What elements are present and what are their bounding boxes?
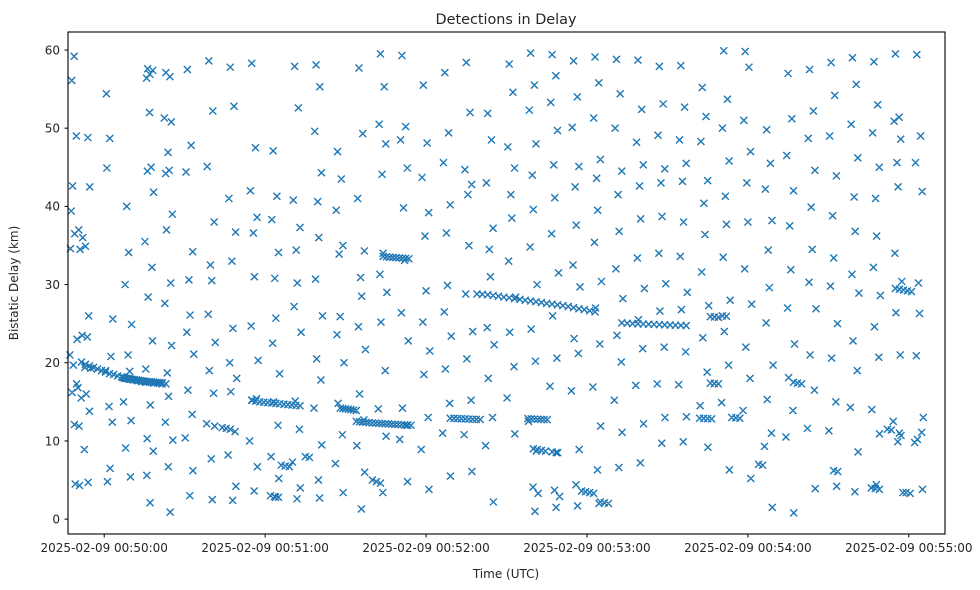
x-tick-label: 2025-02-09 00:51:00 bbox=[201, 541, 328, 555]
plot-background bbox=[68, 32, 945, 534]
chart-title: Detections in Delay bbox=[436, 12, 577, 28]
y-tick-label: 20 bbox=[45, 356, 60, 370]
y-tick-label: 0 bbox=[52, 512, 60, 526]
y-axis-label: Bistatic Delay (km) bbox=[7, 226, 21, 341]
scatter-plot-canvas: Detections in Delay 2025-02-09 00:50:002… bbox=[0, 0, 980, 590]
y-tick-label: 60 bbox=[45, 43, 60, 57]
plot-axes: 2025-02-09 00:50:002025-02-09 00:51:0020… bbox=[40, 32, 972, 555]
y-tick-label: 50 bbox=[45, 121, 60, 135]
y-tick-label: 30 bbox=[45, 278, 60, 292]
y-tick-label: 40 bbox=[45, 200, 60, 214]
x-tick-label: 2025-02-09 00:50:00 bbox=[40, 541, 167, 555]
matplotlib-figure: Detections in Delay 2025-02-09 00:50:002… bbox=[0, 0, 980, 590]
x-tick-label: 2025-02-09 00:55:00 bbox=[845, 541, 972, 555]
x-tick-label: 2025-02-09 00:53:00 bbox=[523, 541, 650, 555]
x-tick-label: 2025-02-09 00:52:00 bbox=[362, 541, 489, 555]
x-tick-label: 2025-02-09 00:54:00 bbox=[684, 541, 811, 555]
x-axis-label: Time (UTC) bbox=[472, 567, 539, 581]
y-tick-label: 10 bbox=[45, 434, 60, 448]
